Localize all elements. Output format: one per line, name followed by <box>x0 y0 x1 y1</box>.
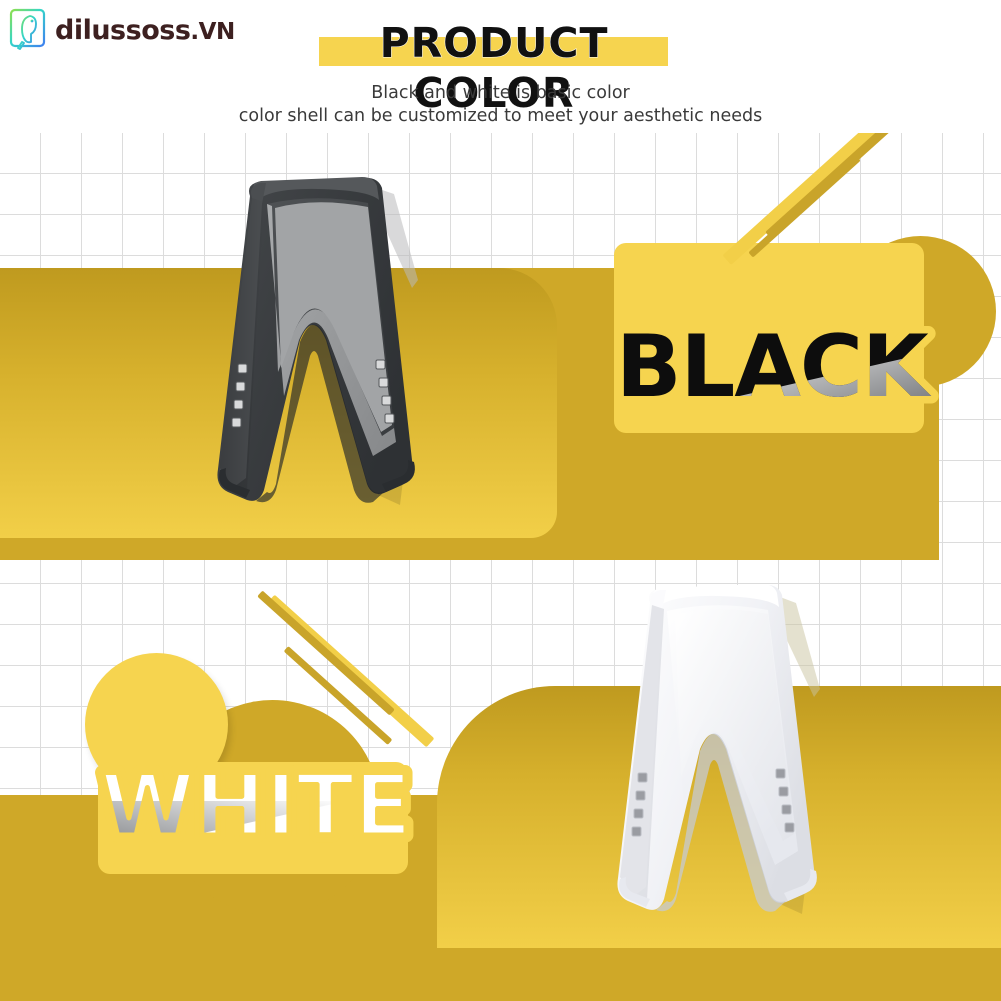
brand-tld: .VN <box>190 19 234 45</box>
page-subtitle: Black and white is basic color color she… <box>0 82 1001 128</box>
product-color-banner: BLACK BLACK BLACK WHITE <box>0 0 1001 1001</box>
label-white: WHITE WHITE WHITE WHITE <box>96 757 416 857</box>
subtitle-line-2: color shell can be customized to meet yo… <box>0 105 1001 128</box>
label-white-edge: WHITE <box>100 756 411 856</box>
bottom-gold-strip <box>0 945 1001 1001</box>
subtitle-line-1: Black and white is basic color <box>0 82 1001 105</box>
brand-name-text: dilussoss <box>55 15 190 46</box>
parrot-bird-icon <box>8 6 48 54</box>
page-title: PRODUCT COLOR <box>309 18 679 68</box>
product-image-white <box>568 565 858 943</box>
brand-logo[interactable]: dilussoss.VN <box>8 6 235 54</box>
banner-header: dilussoss.VN PRODUCT COLOR Black and whi… <box>0 0 1001 133</box>
product-image-black <box>168 160 458 535</box>
label-black: BLACK BLACK BLACK <box>612 320 932 416</box>
brand-name: dilussoss.VN <box>55 15 235 46</box>
